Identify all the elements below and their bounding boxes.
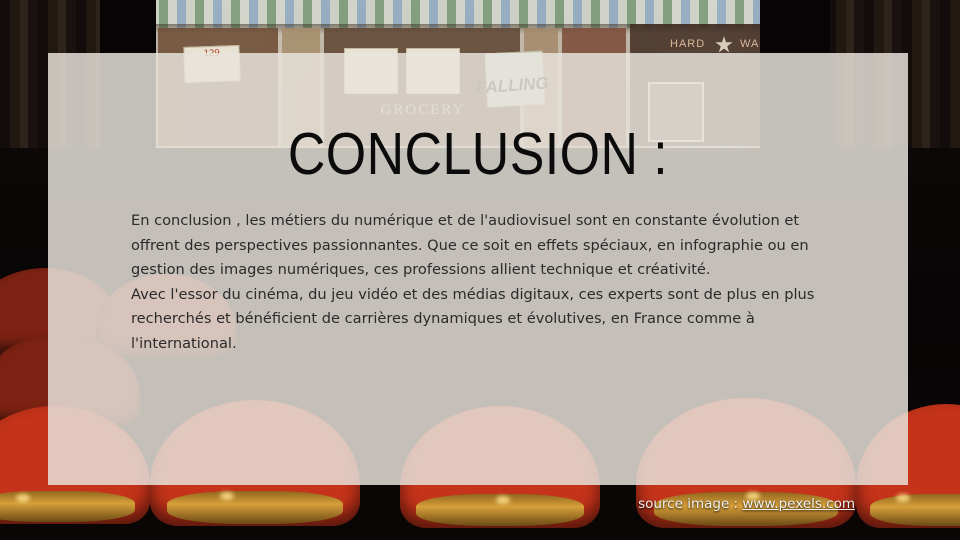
source-credit-label: source image : [638, 496, 742, 512]
seat-trim [167, 491, 343, 524]
seat-glint [496, 496, 510, 504]
hardware-sign-left-text: HARD [670, 38, 705, 50]
content-panel: CONCLUSION : En conclusion , les métiers… [48, 53, 908, 485]
seat-glint [220, 492, 234, 500]
body-text: En conclusion , les métiers du numérique… [131, 209, 831, 357]
body-paragraph-1: En conclusion , les métiers du numérique… [131, 209, 831, 283]
page-title: CONCLUSION : [100, 125, 857, 184]
source-credit-link[interactable]: www.pexels.com [742, 496, 855, 512]
seat-glint [896, 494, 910, 502]
body-paragraph-2: Avec l'essor du cinéma, du jeu vidéo et … [131, 283, 831, 357]
source-credit: source image : www.pexels.com [638, 496, 855, 512]
seat-glint [16, 494, 30, 502]
slide-canvas: 129 GROCERY FALLING HARD WARE 445 [0, 0, 960, 540]
seat-trim [870, 494, 960, 526]
